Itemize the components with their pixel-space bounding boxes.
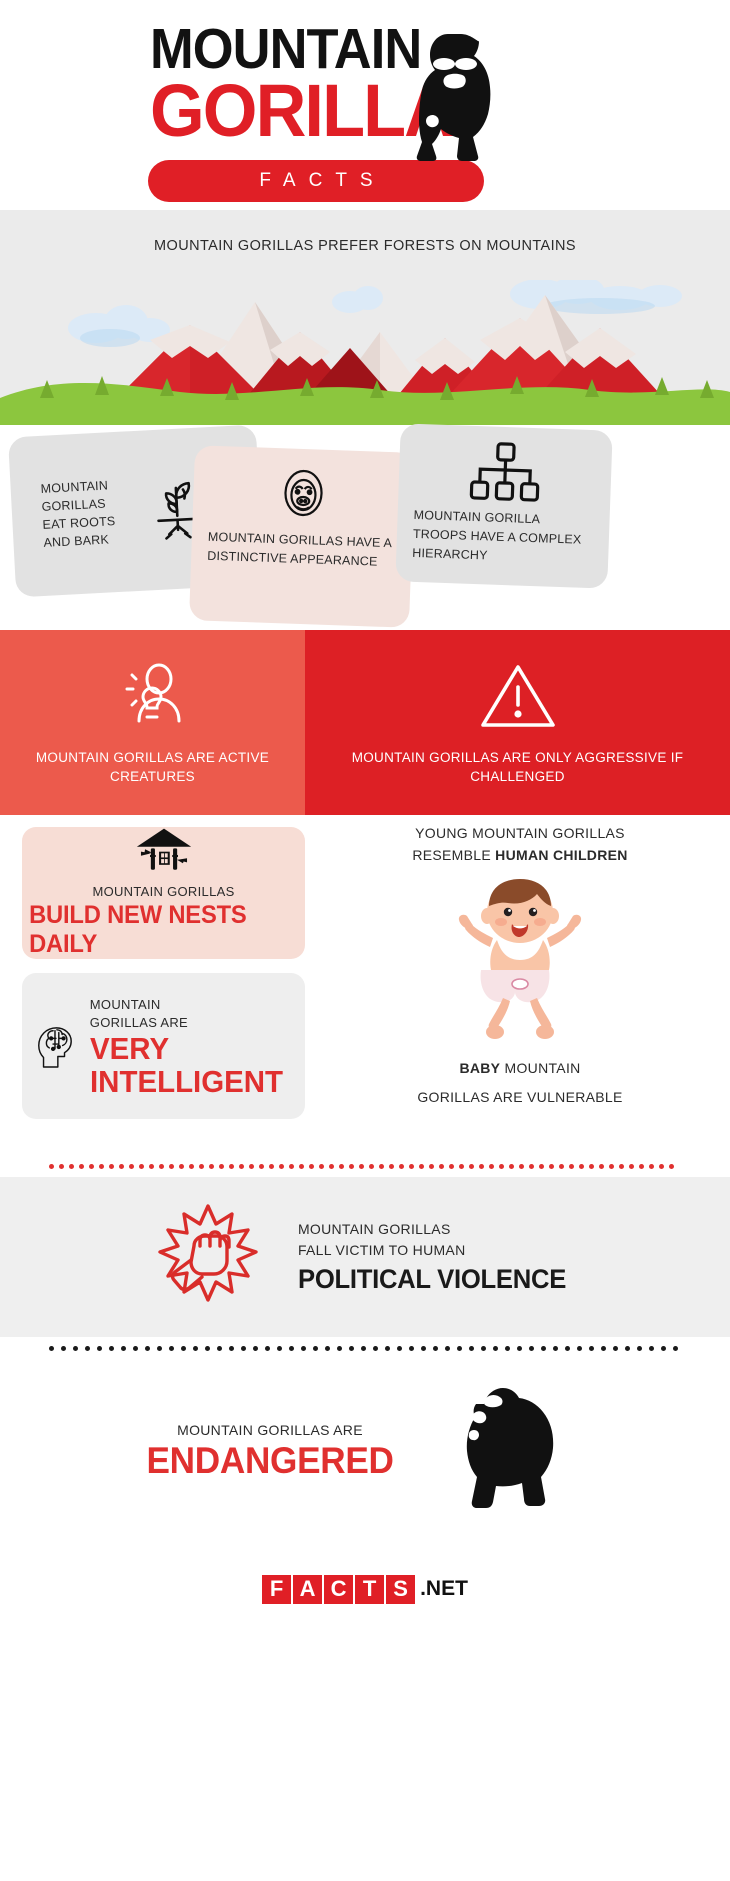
endangered-section: MOUNTAIN GORILLAS ARE ENDANGERED <box>0 1359 730 1544</box>
baby-bottom-rest: MOUNTAIN <box>500 1060 580 1076</box>
baby-bottom-line2: GORILLAS ARE VULNERABLE <box>330 1087 710 1108</box>
endangered-small-label: MOUNTAIN GORILLAS ARE <box>140 1422 400 1438</box>
card-nests-small-label: MOUNTAIN GORILLAS <box>92 884 234 899</box>
baby-bottom-line1: BABY MOUNTAIN <box>330 1058 710 1079</box>
panel-aggressive[interactable]: MOUNTAIN GORILLAS ARE ONLY AGGRESSIVE IF… <box>305 630 730 815</box>
political-violence-section: MOUNTAIN GORILLAS FALL VICTIM TO HUMAN P… <box>0 1177 730 1337</box>
nest-baby-section: MOUNTAIN GORILLAS BUILD NEW NESTS DAILY … <box>0 815 730 1155</box>
warning-triangle-icon <box>477 659 559 735</box>
political-line1: MOUNTAIN GORILLAS <box>298 1219 580 1240</box>
baby-top-line2-plain: RESEMBLE <box>412 847 495 863</box>
logo-letter-t: T <box>355 1575 384 1604</box>
baby-top-line2-bold: HUMAN CHILDREN <box>495 847 628 863</box>
panel-aggressive-label: MOUNTAIN GORILLAS ARE ONLY AGGRESSIVE IF… <box>305 749 730 787</box>
habitat-headline: MOUNTAIN GORILLAS PREFER FORESTS ON MOUN… <box>0 210 730 254</box>
active-person-idea-icon <box>115 659 191 735</box>
card-intelligent-big-line2: INTELLIGENT <box>90 1067 283 1096</box>
mountain-landscape-illustration <box>0 280 730 425</box>
footer: F A C T S .NET <box>0 1544 730 1634</box>
logo-letter-f: F <box>262 1575 291 1604</box>
endangered-big-label: ENDANGERED <box>146 1440 393 1482</box>
card-diet-label: MOUNTAIN GORILLAS EAT ROOTS AND BARK <box>22 475 134 553</box>
political-text-block: MOUNTAIN GORILLAS FALL VICTIM TO HUMAN P… <box>298 1219 580 1295</box>
card-appearance[interactable]: MOUNTAIN GORILLAS HAVE A DISTINCTIVE APP… <box>189 445 415 628</box>
card-intelligent[interactable]: MOUNTAIN GORILLAS ARE VERY INTELLIGENT <box>22 973 305 1119</box>
header: MOUNTAIN GORILLA FACTS <box>0 0 730 210</box>
baby-illustration <box>445 872 595 1050</box>
brain-circuit-head-icon <box>34 996 80 1096</box>
political-line2: FALL VICTIM TO HUMAN <box>298 1240 580 1261</box>
habitat-section: MOUNTAIN GORILLAS PREFER FORESTS ON MOUN… <box>0 210 730 425</box>
gorilla-silhouette-icon <box>382 24 512 174</box>
panel-active-creatures[interactable]: MOUNTAIN GORILLAS ARE ACTIVE CREATURES <box>0 630 305 815</box>
gorilla-face-icon <box>272 462 334 524</box>
baby-block: YOUNG MOUNTAIN GORILLAS RESEMBLE HUMAN C… <box>330 823 710 1108</box>
logo-letter-s: S <box>386 1575 415 1604</box>
card-nests-big-label: BUILD NEW NESTS DAILY <box>29 901 298 959</box>
facts-card-row: MOUNTAIN GORILLAS EAT ROOTS AND BARK <box>0 425 730 630</box>
logo-suffix: .NET <box>420 1577 468 1601</box>
logo-letter-c: C <box>324 1575 353 1604</box>
panel-active-creatures-label: MOUNTAIN GORILLAS ARE ACTIVE CREATURES <box>0 749 305 787</box>
baby-top-line1: YOUNG MOUNTAIN GORILLAS <box>330 823 710 845</box>
logo-letter-a: A <box>293 1575 322 1604</box>
baby-top-line2: RESEMBLE HUMAN CHILDREN <box>330 845 710 867</box>
bamboo-hut-nest-icon <box>119 827 209 878</box>
facts-net-logo[interactable]: F A C T S .NET <box>262 1575 468 1604</box>
political-big-label: POLITICAL VIOLENCE <box>298 1264 566 1295</box>
baby-bottom-bold: BABY <box>459 1060 500 1076</box>
card-intelligent-small-line2: GORILLAS ARE <box>90 1014 293 1032</box>
fist-explosion-icon <box>150 1198 268 1316</box>
hierarchy-chart-icon <box>465 440 545 505</box>
card-intelligent-small-line1: MOUNTAIN <box>90 996 293 1014</box>
dotted-divider-black-icon <box>49 1346 681 1351</box>
endangered-text-block: MOUNTAIN GORILLAS ARE ENDANGERED <box>140 1422 400 1482</box>
divider-black-wrap <box>0 1337 730 1359</box>
card-hierarchy[interactable]: MOUNTAIN GORILLA TROOPS HAVE A COMPLEX H… <box>395 423 612 588</box>
divider-red-wrap <box>0 1155 730 1177</box>
red-panel-row: MOUNTAIN GORILLAS ARE ACTIVE CREATURES M… <box>0 630 730 815</box>
gorilla-walking-silhouette-icon <box>440 1382 590 1522</box>
infographic-page: MOUNTAIN GORILLA FACTS MOUNTAIN GORILLAS… <box>0 0 730 1881</box>
card-intelligent-big-line1: VERY <box>90 1034 283 1063</box>
card-nests[interactable]: MOUNTAIN GORILLAS BUILD NEW NESTS DAILY <box>22 827 305 959</box>
card-hierarchy-label: MOUNTAIN GORILLA TROOPS HAVE A COMPLEX H… <box>412 506 594 568</box>
card-appearance-label: MOUNTAIN GORILLAS HAVE A DISTINCTIVE APP… <box>207 528 396 572</box>
dotted-divider-red-icon <box>49 1164 681 1169</box>
facts-pill-label: FACTS <box>246 170 385 192</box>
